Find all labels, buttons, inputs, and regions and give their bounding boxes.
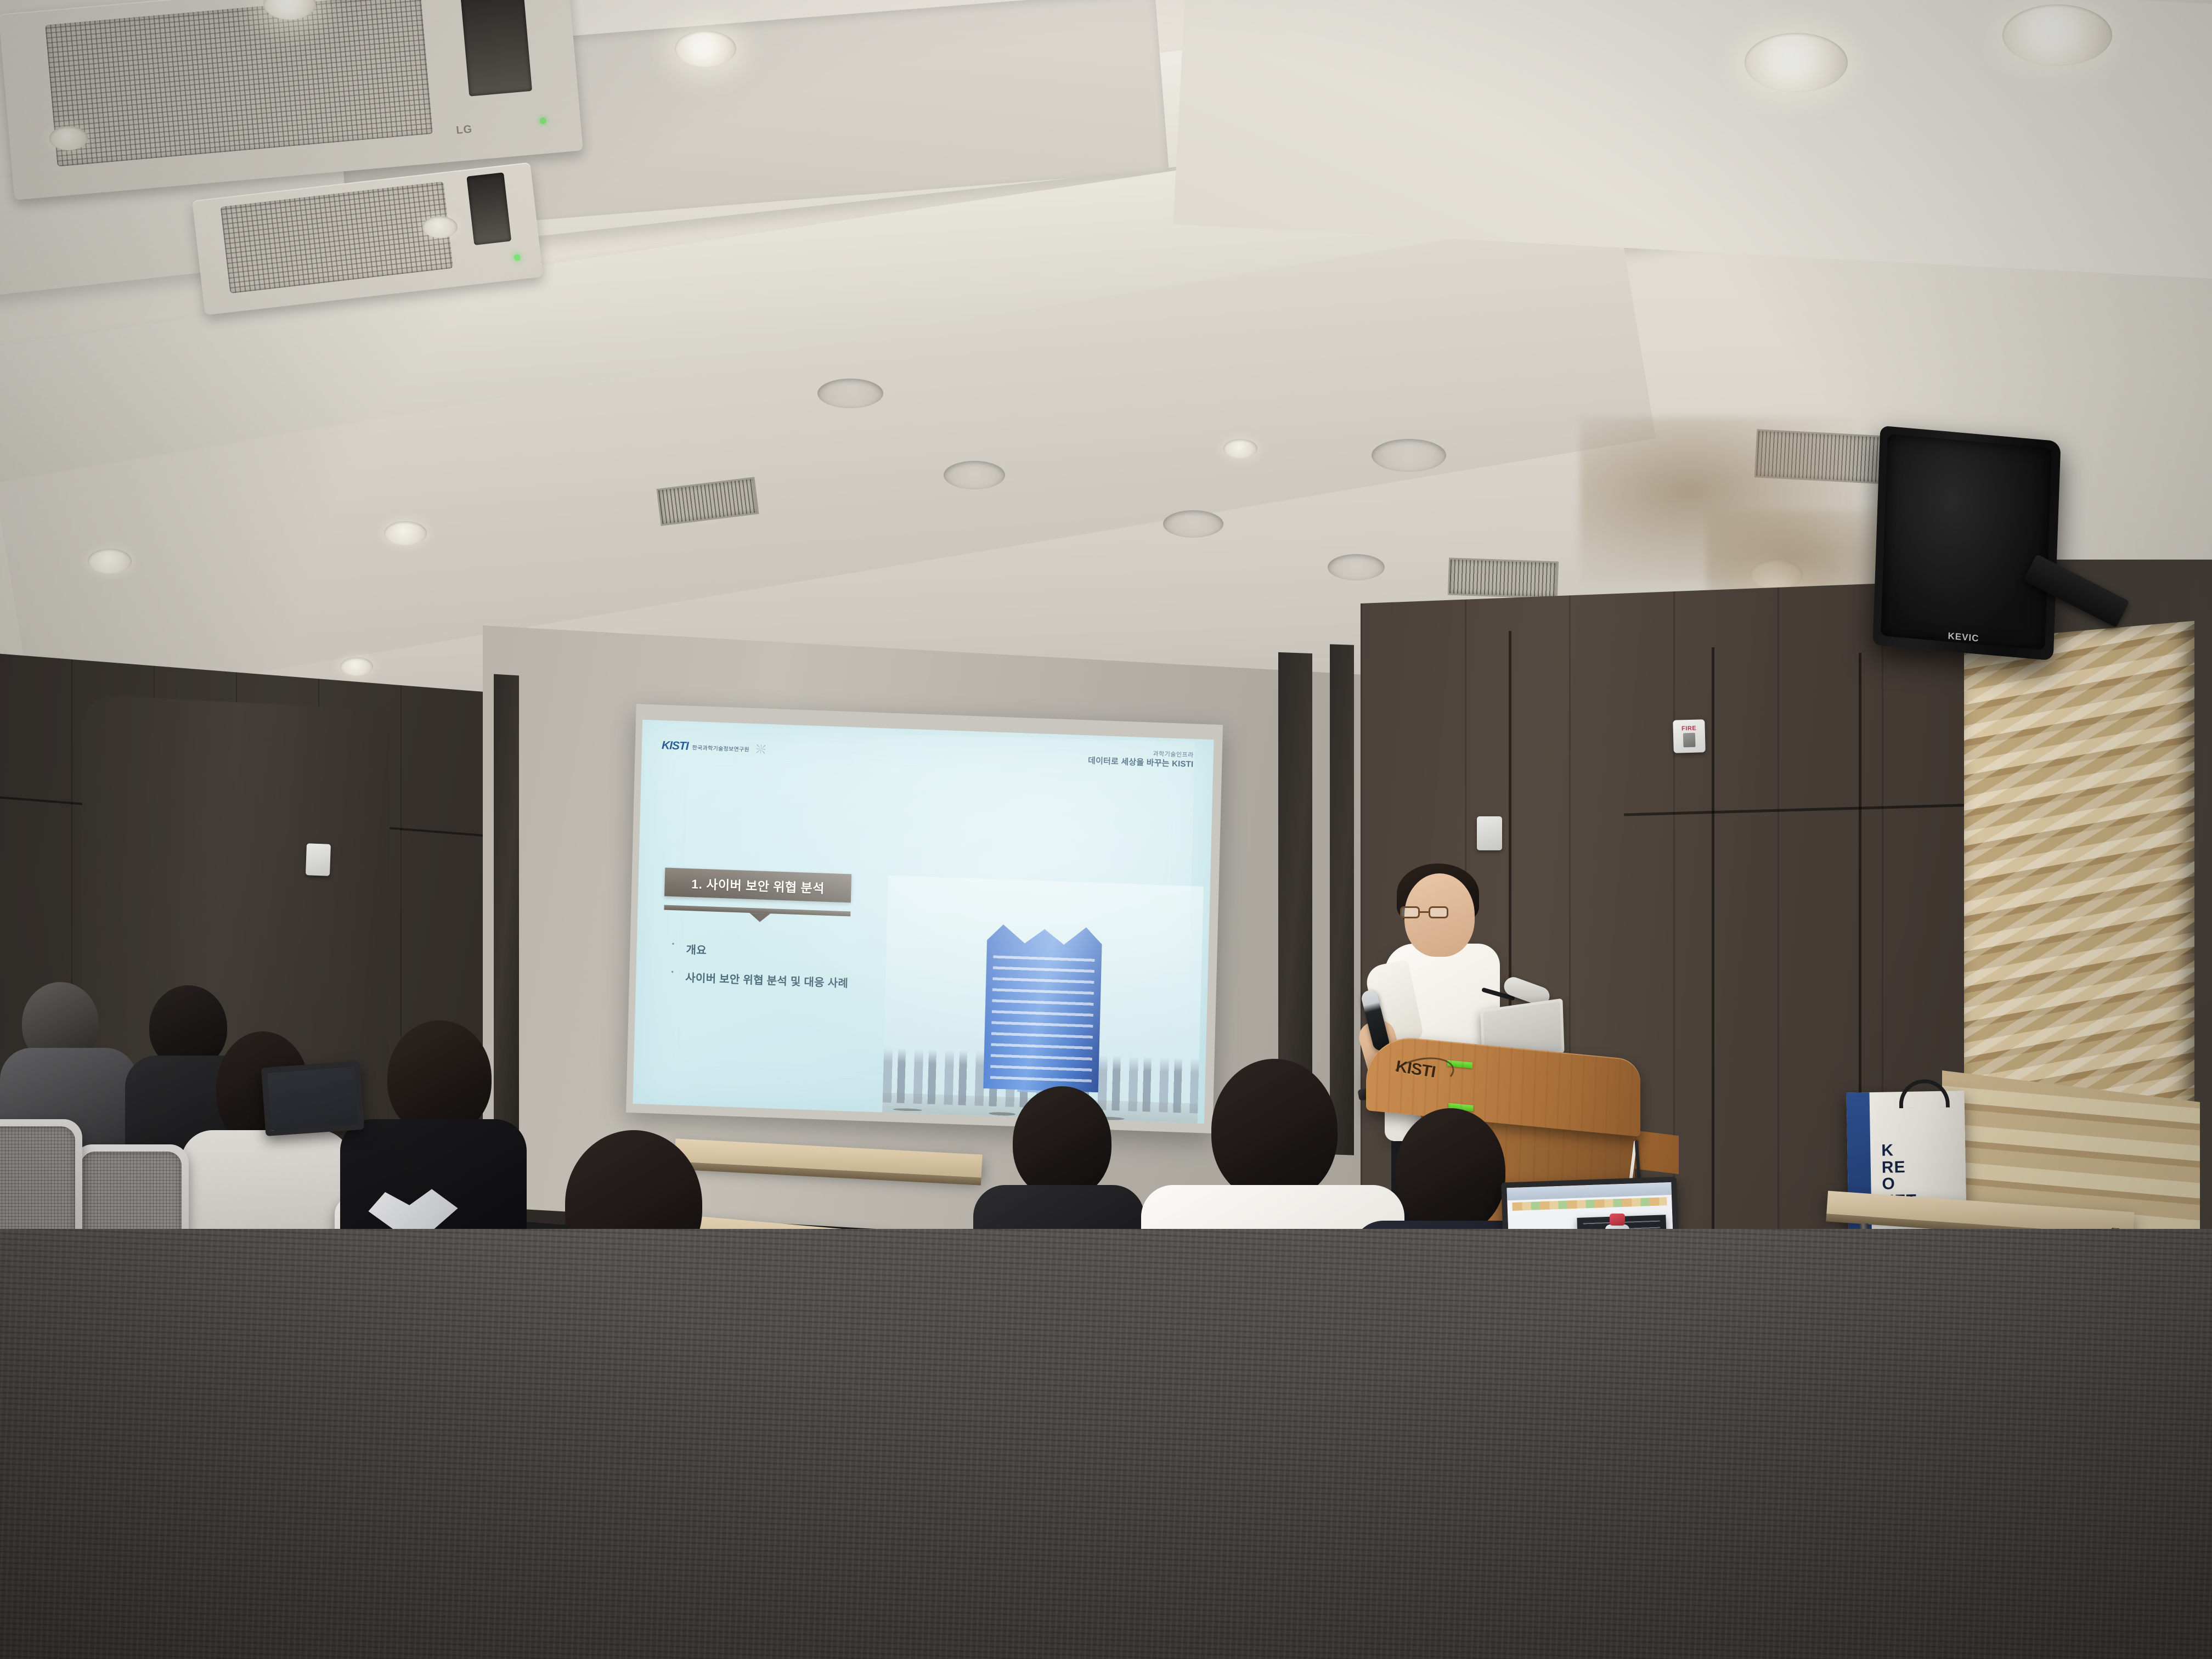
podium-wordmark: KISTI [1395,1057,1435,1082]
ceiling-downlight [88,549,132,574]
ceiling-speaker-ring [1372,439,1446,472]
slide-title-text: 1. 사이버 보안 위협 분석 [691,873,825,896]
ceiling-downlight [422,216,458,238]
ac-status-led [539,117,546,124]
glasses-lens-left [1400,906,1420,918]
wall-sensor-box [306,843,331,876]
green-tape-strip [1447,1060,1472,1068]
bag-brand-line: RE [1882,1159,1917,1176]
ceiling-speaker-ring [1328,554,1385,580]
ac-vent-slot [467,172,512,245]
ceiling-downlight [49,126,88,150]
ceiling-downlight [675,31,736,67]
bag-brand-line: O [1882,1176,1917,1193]
ceiling-speaker-ring [817,379,883,408]
seminar-room-photo: LG [0,0,2212,1659]
person-head [387,1020,492,1136]
person-head [1396,1108,1505,1234]
glasses-bridge [1420,911,1429,913]
ac-grille-icon [45,0,432,166]
ceiling-air-grate [1448,558,1559,599]
fire-extinguisher-sign: FIRE [1673,719,1706,753]
eyeglasses-icon [1400,906,1453,918]
bag-brand-line: K [1881,1142,1916,1160]
speaker-brand-label: KEVIC [1948,630,1979,644]
office-chair[interactable] [0,1119,82,1245]
slide-logo-korean-name: 한국과학기술정보연구원 [692,743,749,753]
chair-mesh-back [0,1126,75,1237]
laptop-screen-content [267,1067,359,1131]
ac-status-led [513,254,521,261]
slide-logo-wordmark: KISTI [662,739,689,753]
ceiling-downlight [1223,439,1257,459]
ac-brand-label: LG [455,123,473,137]
ceiling-speaker-ring [1163,510,1223,538]
ceiling-downlight [1745,33,1848,92]
ceiling-downlight [340,657,373,676]
fire-extinguisher-icon [1683,733,1696,748]
ac-grille-icon [220,182,453,294]
wall-sensor-box [1477,816,1502,850]
ceiling-downlight [2002,4,2112,66]
slide-logo: KISTI 한국과학기술정보연구원 [662,739,766,756]
wall-panel-seam [1712,647,1714,1229]
speaker-grille-icon [1881,434,2052,650]
slide-title-arrow-icon [749,913,770,922]
ac-vent-slot [460,0,532,97]
fire-sign-label: FIRE [1681,725,1696,732]
slide-title-bar: 1. 사이버 보안 위협 분석 [664,868,851,903]
photo-kisti-building [983,924,1102,1092]
person-head [1211,1059,1338,1201]
laptop-far-left[interactable] [261,1061,364,1136]
ceiling-downlight [384,521,427,545]
bottle-cap [1610,1214,1625,1226]
starburst-icon [757,744,765,754]
person-head [1013,1086,1111,1199]
carpet-floor [0,1229,2212,1659]
laptop-screen[interactable] [261,1061,364,1136]
projected-slide: KISTI 한국과학기술정보연구원 과학기술인프라 데이터로 세상을 바꾸는 K… [633,720,1214,1124]
ceiling-speaker-ring [944,461,1005,489]
wall-speaker: KEVIC [1872,426,2061,661]
slide-tagline: 과학기술인프라 데이터로 세상을 바꾸는 KISTI [1088,748,1194,770]
glasses-lens-right [1429,906,1448,918]
